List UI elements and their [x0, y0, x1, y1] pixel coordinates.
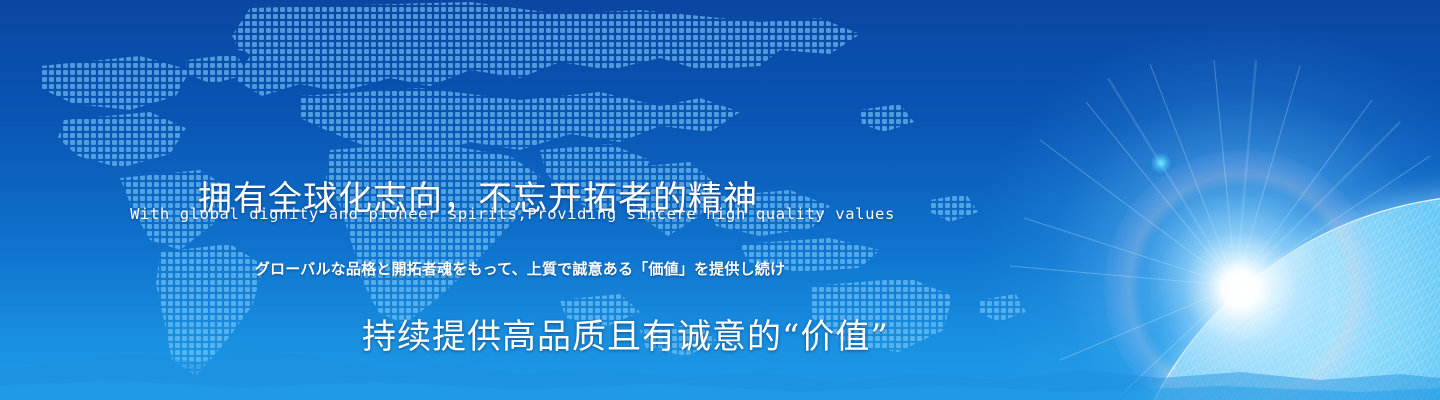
hero-banner: 拥有全球化志向，不忘开拓者的精神 持续提供高品质且有诚意的“价值” With g…	[0, 0, 1440, 400]
banner-text-block: 拥有全球化志向，不忘开拓者的精神 持续提供高品质且有诚意的“价值” With g…	[0, 0, 1060, 400]
subtitle-japanese: グローバルな品格と開拓者魂をもって、上質で誠意ある「価値」を提供し続け	[0, 258, 1060, 279]
subtitle-english: With global dignity and pioneer spirits,…	[0, 205, 1060, 223]
page-title: 拥有全球化志向，不忘开拓者的精神 持续提供高品质且有诚意的“价值”	[0, 84, 900, 400]
lens-flare-dot-icon	[1151, 153, 1171, 173]
headline-line-2: 持续提供高品质且有诚意的“价值”	[0, 314, 900, 360]
